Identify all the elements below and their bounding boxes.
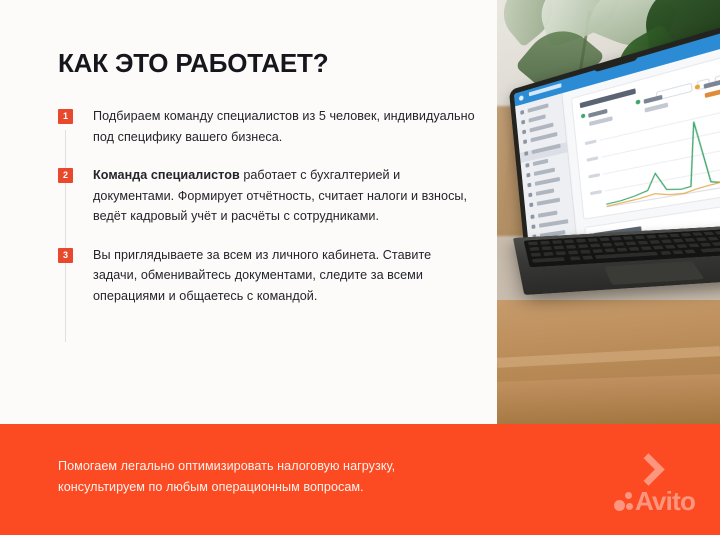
chart-series-svg — [599, 100, 720, 208]
slide-root: КАК ЭТО РАБОТАЕТ? 1 Подбираем команду сп… — [0, 0, 720, 535]
footer-text: Помогаем легально оптимизировать налогов… — [58, 456, 528, 498]
legend-dot-icon — [636, 99, 641, 104]
avito-dot-icon — [625, 492, 632, 499]
sidebar-item-label — [538, 211, 558, 218]
avito-wordmark: Avito — [635, 488, 695, 514]
sidebar-item-label — [534, 168, 555, 176]
step-badge-3: 3 — [58, 248, 73, 263]
laptop-trackpad — [604, 261, 705, 285]
sidebar-item-icon — [525, 163, 529, 168]
chevron-right-icon — [632, 453, 665, 486]
laptop — [527, 86, 720, 326]
avito-dot-icon — [614, 500, 625, 511]
avito-watermark: Avito — [613, 452, 713, 522]
step-3-body: Вы приглядываете за всем из личного каби… — [93, 248, 431, 303]
step-text-2: Команда специалистов работает с бухгалте… — [93, 165, 478, 227]
sidebar-item-icon — [528, 193, 532, 198]
sidebar-item-icon — [523, 139, 527, 144]
page-title: КАК ЭТО РАБОТАЕТ? — [58, 48, 328, 79]
step-text-1: Подбираем команду специалистов из 5 чело… — [93, 106, 478, 147]
kpi-value — [589, 116, 613, 126]
list-item: 2 Команда специалистов работает с бухгал… — [58, 165, 478, 227]
list-item: 3 Вы приглядываете за всем из личного ка… — [58, 245, 478, 307]
step-1-body: Подбираем команду специалистов из 5 чело… — [93, 109, 475, 144]
avito-dot-icon — [626, 503, 633, 510]
step-badge-2: 2 — [58, 168, 73, 183]
steps-connector-line — [65, 130, 66, 342]
content-pane: КАК ЭТО РАБОТАЕТ? 1 Подбираем команду сп… — [0, 0, 498, 424]
chart-card-title — [580, 88, 636, 108]
sidebar-item-label — [539, 219, 569, 228]
footer-line-2: консультируем по любым операционным вопр… — [58, 480, 364, 494]
sidebar-item-label — [528, 103, 549, 113]
step-text-3: Вы приглядываете за всем из личного каби… — [93, 245, 478, 307]
sidebar-item-icon — [529, 203, 533, 208]
sidebar-item-icon — [526, 173, 530, 178]
step-badge-1: 1 — [58, 109, 73, 124]
kpi-value — [645, 102, 669, 112]
sidebar-item-icon — [522, 130, 526, 135]
sidebar-item-label — [535, 177, 560, 186]
sidebar-item-label — [537, 198, 560, 206]
sidebar-item-label — [533, 159, 549, 166]
sidebar-item-icon — [527, 183, 531, 188]
sidebar-item-icon — [524, 151, 528, 156]
sidebar-item-icon — [520, 110, 524, 115]
hero-photo — [497, 0, 720, 424]
kpi-value — [705, 88, 720, 98]
app-logo-icon — [519, 95, 524, 101]
step-2-bold-lead: Команда специалистов — [93, 168, 240, 182]
sidebar-item-label — [529, 123, 553, 133]
sidebar-item-label — [530, 132, 557, 142]
sidebar-item-label — [536, 188, 555, 195]
sidebar-item-label — [528, 114, 545, 122]
laptop-base — [513, 225, 720, 295]
kpi-label — [644, 95, 663, 104]
sidebar-item-icon — [521, 120, 525, 125]
sidebar-item-icon — [530, 214, 534, 219]
photo-table-front — [497, 374, 720, 424]
list-item: 1 Подбираем команду специалистов из 5 че… — [58, 106, 478, 147]
steps-list: 1 Подбираем команду специалистов из 5 че… — [58, 106, 478, 306]
legend-dot-icon — [581, 113, 586, 118]
kpi-label — [588, 109, 607, 118]
sidebar-item-icon — [531, 224, 535, 229]
footer-line-1: Помогаем легально оптимизировать налогов… — [58, 459, 395, 473]
